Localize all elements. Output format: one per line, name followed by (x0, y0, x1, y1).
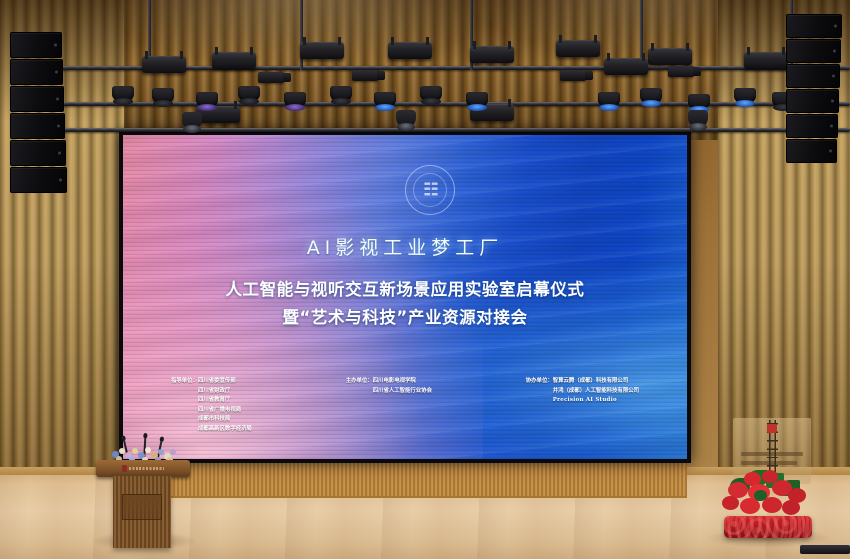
light-fixture-par (112, 86, 134, 101)
light-fixture-par (238, 86, 260, 101)
light-fixture-panel (470, 46, 514, 63)
light-fixture-panel (604, 58, 648, 75)
light-fixture-par (284, 92, 306, 107)
credit-entries-guiding: 四川省委宣传部 四川省财政厅 四川省教育厅 四川省广播电视局 成都市科技局 成都… (198, 377, 252, 435)
light-fixture-spot (258, 72, 284, 83)
light-fixture-par (466, 92, 488, 107)
credit-entry-latin: Precision AI Studio (553, 396, 639, 406)
light-fixture-fresnel (688, 110, 708, 128)
light-fixture-panel (300, 42, 344, 59)
light-fixture-par (734, 88, 756, 103)
truss-bar-middle (60, 102, 850, 106)
light-fixture-panel (212, 52, 256, 69)
truss-bar-lower (60, 128, 850, 132)
credit-block-guiding: 指导单位： 四川省委宣传部 四川省财政厅 四川省教育厅 四川省广播电视局 成都市… (171, 377, 252, 435)
light-fixture-par (640, 88, 662, 103)
ribbed-wood-panel (122, 460, 687, 498)
light-fixture-par (374, 92, 396, 107)
credit-entry: 四川省委宣传部 (198, 377, 252, 387)
stage-scene: ☷ AI影视工业梦工厂 人工智能与视听交互新场景应用实验室启幕仪式 暨“艺术与科… (0, 0, 850, 559)
line-array-speaker-right (786, 14, 842, 163)
speaker-podium (96, 438, 190, 548)
event-subtitle-line2: 暨“艺术与科技”产业资源对接会 (123, 304, 687, 328)
credit-entries-coorganizer: 智算云腾（成都）科技有限公司 并鸿（成都）人工智能科技有限公司 Precisio… (553, 377, 639, 435)
podium-emblem-text (129, 467, 164, 470)
red-flower-arrangement (718, 470, 818, 538)
credit-entry: 四川电影电视学院 (373, 377, 432, 387)
credit-entry: 四川省教育厅 (198, 396, 252, 406)
credit-label-coorganizer: 协办单位： (526, 377, 553, 435)
event-title-main: AI影视工业梦工厂 (123, 233, 687, 260)
podium-emblem (122, 465, 164, 472)
light-fixture-par (152, 88, 174, 103)
credit-entries-host: 四川电影电视学院 四川省人工智能行业协会 (373, 377, 432, 435)
light-fixture-spot (668, 66, 694, 77)
light-fixture-panel (388, 42, 432, 59)
podium-body (113, 476, 171, 548)
light-fixture-par (420, 86, 442, 101)
line-array-speaker-left (10, 32, 67, 193)
stage-monitor-wedge (800, 545, 850, 554)
credit-label-host: 主办单位： (346, 377, 373, 435)
truss-drop-2 (300, 0, 303, 70)
credit-entry: 四川省人工智能行业协会 (373, 387, 432, 397)
credit-block-coorganizer: 协办单位： 智算云腾（成都）科技有限公司 并鸿（成都）人工智能科技有限公司 Pr… (526, 377, 639, 435)
light-fixture-spot (352, 70, 378, 81)
light-fixture-panel (556, 40, 600, 57)
credit-entry: 并鸿（成都）人工智能科技有限公司 (553, 387, 639, 397)
led-screen-text-layer: AI影视工业梦工厂 人工智能与视听交互新场景应用实验室启幕仪式 暨“艺术与科技”… (123, 135, 687, 459)
credit-entry: 成都市科技局 (198, 415, 252, 425)
light-fixture-spot (560, 70, 586, 81)
flower-base-wrap (724, 516, 812, 538)
credit-block-host: 主办单位： 四川电影电视学院 四川省人工智能行业协会 (346, 377, 432, 435)
light-fixture-fresnel (396, 110, 416, 128)
light-fixture-fresnel (182, 112, 202, 130)
plaque-red-seal (767, 424, 777, 433)
event-subtitle-line1: 人工智能与视听交互新场景应用实验室启幕仪式 (123, 276, 687, 300)
credit-label-guiding: 指导单位： (171, 377, 198, 435)
credit-entry: 四川省广播电视局 (198, 406, 252, 416)
flower-base-texture (724, 516, 812, 538)
light-fixture-par (688, 94, 710, 109)
light-fixture-par (196, 92, 218, 107)
light-fixture-par (598, 92, 620, 107)
light-fixture-panel (744, 52, 788, 69)
credits-row: 指导单位： 四川省委宣传部 四川省财政厅 四川省教育厅 四川省广播电视局 成都市… (123, 377, 687, 435)
credit-entry: 四川省财政厅 (198, 387, 252, 397)
podium-front-inset (122, 494, 162, 520)
light-fixture-par (330, 86, 352, 101)
light-fixture-panel (142, 56, 186, 73)
credit-entry: 智算云腾（成都）科技有限公司 (553, 377, 639, 387)
credit-entry: 成都高新区数字经济局 (198, 425, 252, 435)
podium-emblem-mark (122, 465, 127, 472)
light-fixture-panel (648, 48, 692, 65)
podium-top-surface (96, 460, 190, 477)
